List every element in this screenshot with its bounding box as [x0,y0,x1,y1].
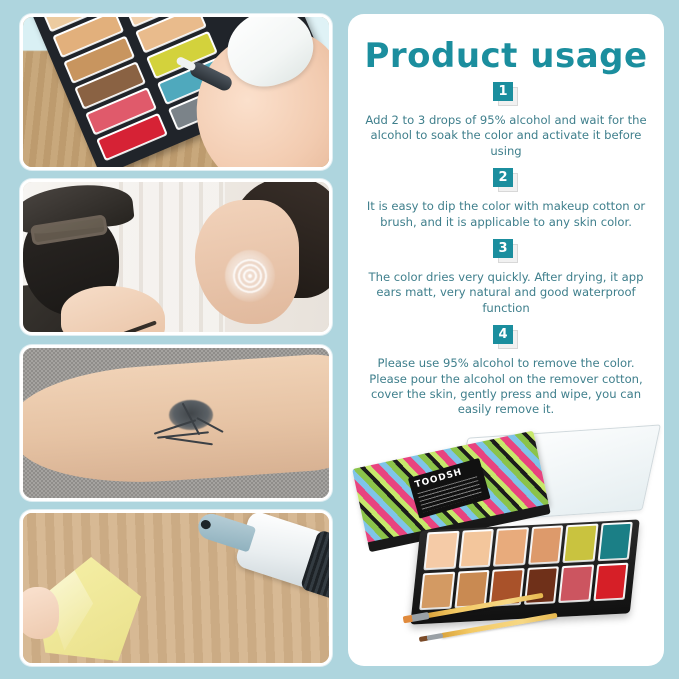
step-badge-3: 3 [493,239,519,263]
photo-tattoo-design-on-skin [20,345,332,501]
photo-applying-alcohol-to-palette [20,14,332,170]
usage-step-1: 1 Add 2 to 3 drops of 95% alcohol and wa… [358,82,654,159]
page-title: Product usage [348,36,664,76]
color-pan [562,523,598,562]
tattoo-artwork [151,400,229,448]
step-number-4: 4 [493,325,513,344]
usage-steps-list: 1 Add 2 to 3 drops of 95% alcohol and wa… [348,82,664,418]
color-pan [419,571,455,610]
step-number-1: 1 [493,82,513,101]
usage-step-2: 2 It is easy to dip the color with makeu… [358,168,654,230]
infographic-page: Product usage 1 Add 2 to 3 drops of 95% … [0,0,679,679]
color-pan [593,562,629,601]
step-text-4: Please use 95% alcohol to remove the col… [358,356,654,418]
brand-label: TOODSH [408,458,491,519]
color-pan [458,529,494,568]
color-pan [423,531,459,570]
step-text-3: The color dries very quickly. After dryi… [358,270,654,316]
step-badge-4: 4 [493,325,519,349]
step-text-1: Add 2 to 3 drops of 95% alcohol and wait… [358,113,654,159]
color-pan [493,527,529,566]
photo-column [20,14,332,666]
step-text-2: It is easy to dip the color with makeup … [358,199,654,230]
model-face [187,184,329,332]
step-badge-1: 1 [493,82,519,106]
product-photo: TOODSH [348,427,664,677]
step-badge-2: 2 [493,168,519,192]
product-usage-panel: Product usage 1 Add 2 to 3 drops of 95% … [348,14,664,666]
color-pan [528,525,564,564]
hand [23,587,59,639]
step-number-2: 2 [493,168,513,187]
usage-step-4: 4 Please use 95% alcohol to remove the c… [358,325,654,418]
color-pan [558,564,594,603]
photo-sponge-and-alcohol-bottle [20,510,332,666]
usage-step-3: 3 The color dries very quickly. After dr… [358,239,654,316]
makeup-brush [69,321,157,333]
photo-makeup-artist-applying-sfx [20,179,332,335]
step-number-3: 3 [493,239,513,258]
bottle-tip [195,513,256,553]
sfx-makeup-effect [225,250,275,302]
color-pan [597,522,633,561]
